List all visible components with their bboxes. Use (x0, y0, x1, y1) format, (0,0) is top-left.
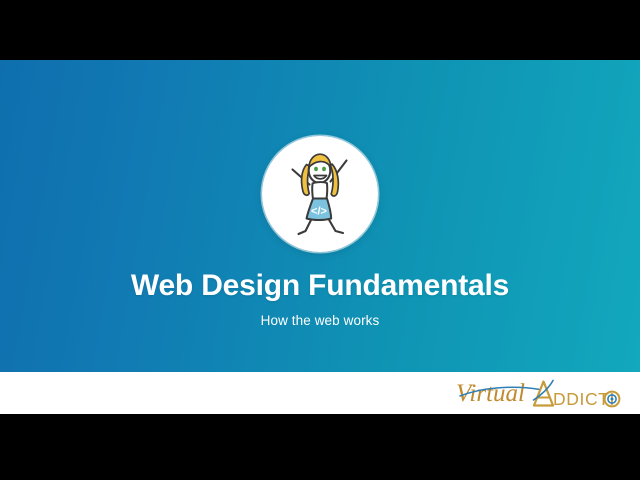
avatar-circle: </> (262, 136, 378, 252)
headline-block: Web Design Fundamentals How the web work… (0, 268, 640, 329)
letterbox-bar-top (0, 0, 640, 60)
footer-bar: Virtual DDICTI ADDICTION (0, 372, 640, 414)
eye-left (314, 167, 318, 171)
eye-right (322, 167, 326, 171)
logo-artwork: Virtual DDICTI ADDICTION (454, 374, 626, 412)
logo-a-mark (534, 381, 554, 406)
letterbox-bar-bottom (0, 414, 640, 480)
page-title: Web Design Fundamentals (0, 268, 640, 304)
logo-wordmark-text: DDICTI (553, 389, 615, 409)
shirt (312, 182, 327, 200)
girl-coder-avatar-icon: </> (262, 136, 378, 252)
video-frame: </> Web Design Fundamentals How the web … (0, 0, 640, 480)
slide-subtitle: How the web works (0, 312, 640, 329)
smile (314, 176, 327, 179)
avatar: </> (262, 136, 378, 252)
code-symbol: </> (311, 206, 327, 218)
virtual-addiction-logo: Virtual DDICTI ADDICTION (454, 374, 626, 412)
slide-canvas: </> Web Design Fundamentals How the web … (0, 60, 640, 372)
